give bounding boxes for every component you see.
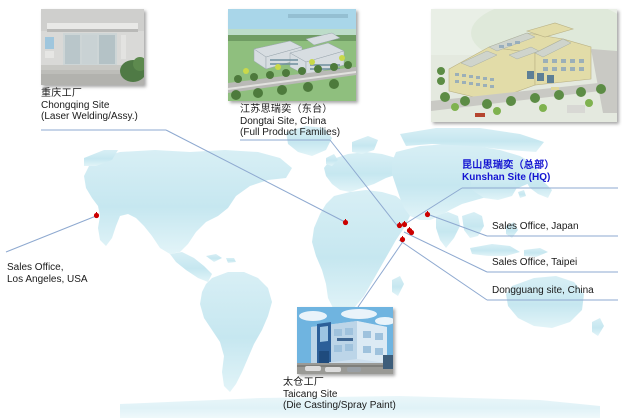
slide-canvas: 重庆工厂 Chongqing Site (Laser Welding/Assy.… <box>0 0 622 418</box>
label-sales-japan-text: Sales Office, Japan <box>492 221 579 233</box>
label-chongqing-en: Chongqing Site <box>41 100 138 112</box>
label-sales-taipei: Sales Office, Taipei <box>492 257 577 269</box>
label-sales-taipei-text: Sales Office, Taipei <box>492 257 577 269</box>
label-dongtai-en: Dongtai Site, China <box>240 116 340 128</box>
label-la-line2: Los Angeles, USA <box>7 274 88 286</box>
label-taicang-note: (Die Casting/Spray Paint) <box>283 400 396 412</box>
label-taicang: 太仓工厂 Taicang Site (Die Casting/Spray Pai… <box>283 377 396 412</box>
label-taicang-cn: 太仓工厂 <box>283 377 396 389</box>
map-marker-sales-japan <box>424 211 431 218</box>
label-kunshan-en: Kunshan Site (HQ) <box>462 172 555 184</box>
photo-chongqing <box>41 9 144 85</box>
label-chongqing-cn: 重庆工厂 <box>41 88 138 100</box>
label-taicang-en: Taicang Site <box>283 389 396 401</box>
label-chongqing-note: (Laser Welding/Assy.) <box>41 111 138 123</box>
photo-dongtai <box>228 9 356 101</box>
photo-taicang <box>297 307 393 374</box>
map-marker-los-angeles <box>93 212 100 219</box>
map-marker-sales-taipei <box>408 229 415 236</box>
label-sales-japan: Sales Office, Japan <box>492 221 579 233</box>
label-chongqing: 重庆工厂 Chongqing Site (Laser Welding/Assy.… <box>41 88 138 123</box>
label-sales-los-angeles: Sales Office, Los Angeles, USA <box>7 262 88 285</box>
label-dongtai-note: (Full Product Families) <box>240 127 340 139</box>
label-kunshan-hq: 昆山思瑞奕（总部） Kunshan Site (HQ) <box>462 160 555 184</box>
photo-kunshan-hq <box>431 9 617 122</box>
label-la-line1: Sales Office, <box>7 262 88 274</box>
label-dongtai: 江苏思瑞奕（东台） Dongtai Site, China (Full Prod… <box>240 104 340 139</box>
map-marker-chongqing <box>342 219 349 226</box>
label-dongtai-cn: 江苏思瑞奕（东台） <box>240 104 340 116</box>
label-dongguang-text: Dongguang site, China <box>492 285 594 297</box>
map-marker-taicang <box>399 236 406 243</box>
label-kunshan-cn: 昆山思瑞奕（总部） <box>462 160 555 172</box>
label-dongguang: Dongguang site, China <box>492 285 594 297</box>
